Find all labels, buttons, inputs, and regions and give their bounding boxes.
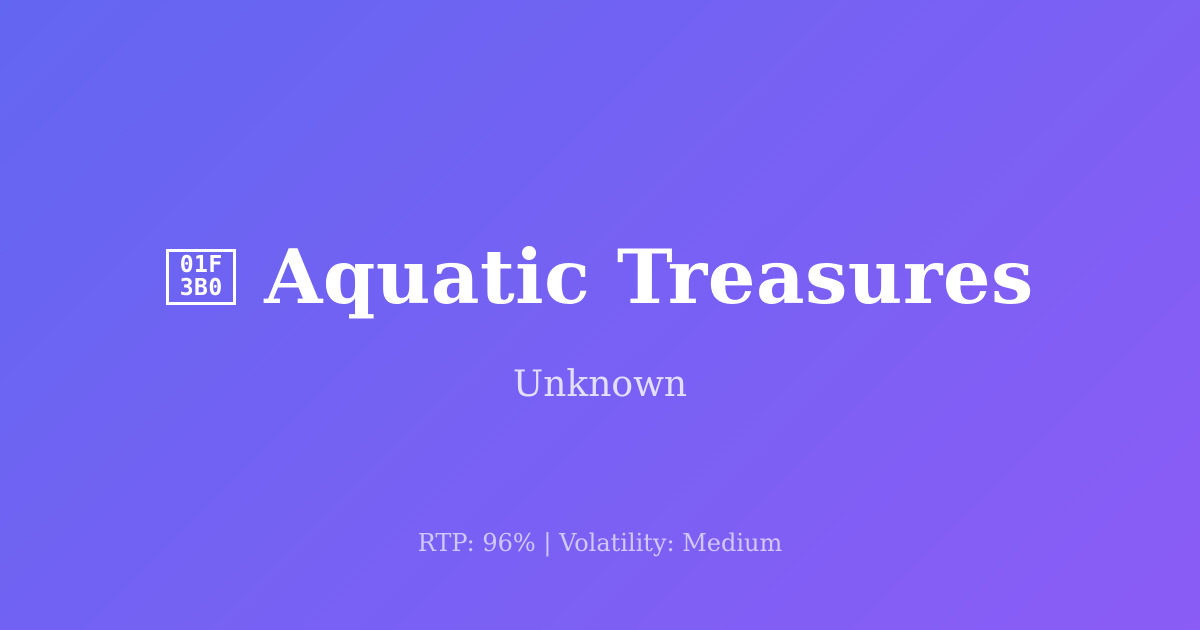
- game-promo-card: 01F 3B0 Aquatic Treasures Unknown RTP: 9…: [0, 0, 1200, 630]
- tofu-codepoint-top: 01F: [180, 254, 223, 277]
- game-stats: RTP: 96% | Volatility: Medium: [0, 528, 1200, 558]
- game-provider: Unknown: [0, 363, 1200, 407]
- title-row: 01F 3B0 Aquatic Treasures: [0, 0, 1200, 592]
- slot-machine-emoji-tofu-icon: 01F 3B0: [166, 249, 236, 305]
- game-title: Aquatic Treasures: [264, 240, 1034, 315]
- tofu-codepoint-bottom: 3B0: [180, 277, 223, 300]
